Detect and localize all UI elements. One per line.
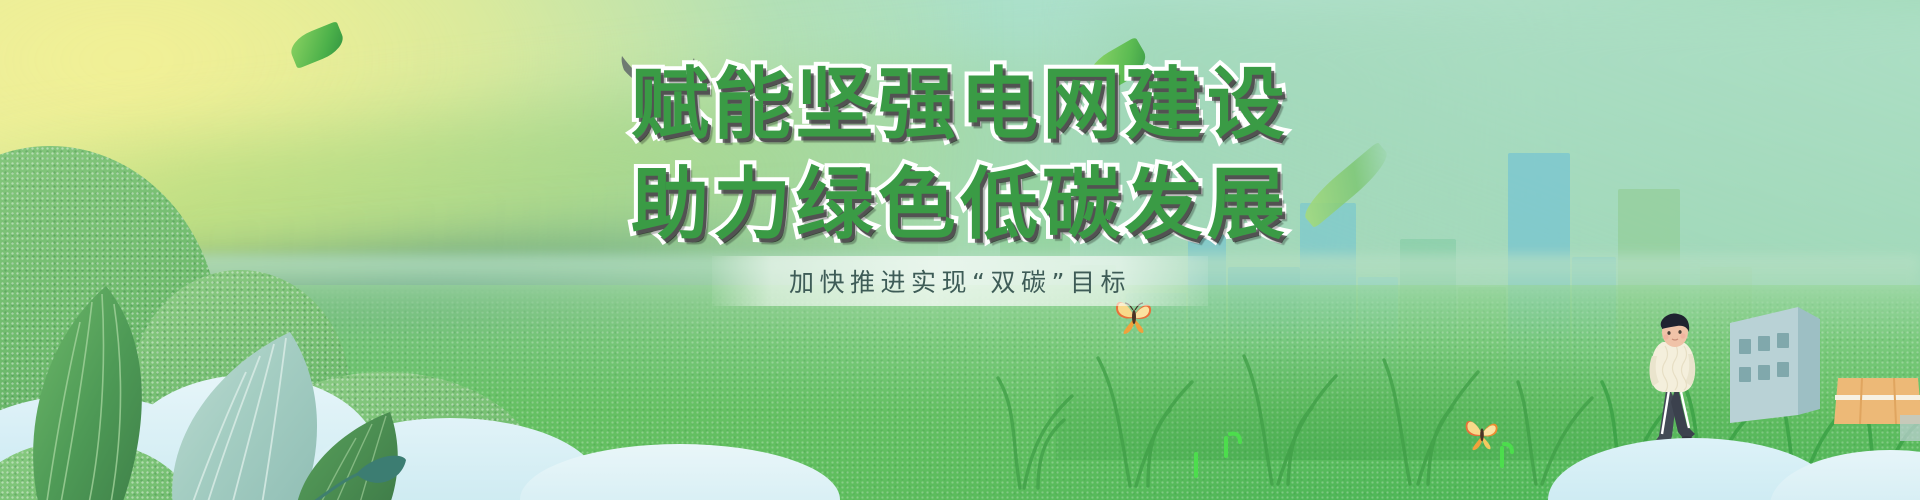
grey-block-far-right [1900, 415, 1920, 441]
grass-blades-group [980, 300, 1600, 490]
butterfly-lower-icon [1462, 412, 1502, 452]
walking-person [1645, 310, 1707, 450]
swallow-bird-icon [610, 52, 700, 108]
small-leaf-with-stem [300, 430, 410, 500]
subtitle-text: 加快推进实现“双碳”目标 [789, 263, 1131, 299]
subtitle-band: 加快推进实现“双碳”目标 [712, 256, 1208, 306]
green-energy-banner: 赋能坚强电网建设 助力绿色低碳发展 加快推进实现“双碳”目标 [0, 0, 1920, 500]
apartment-building [1730, 305, 1822, 425]
